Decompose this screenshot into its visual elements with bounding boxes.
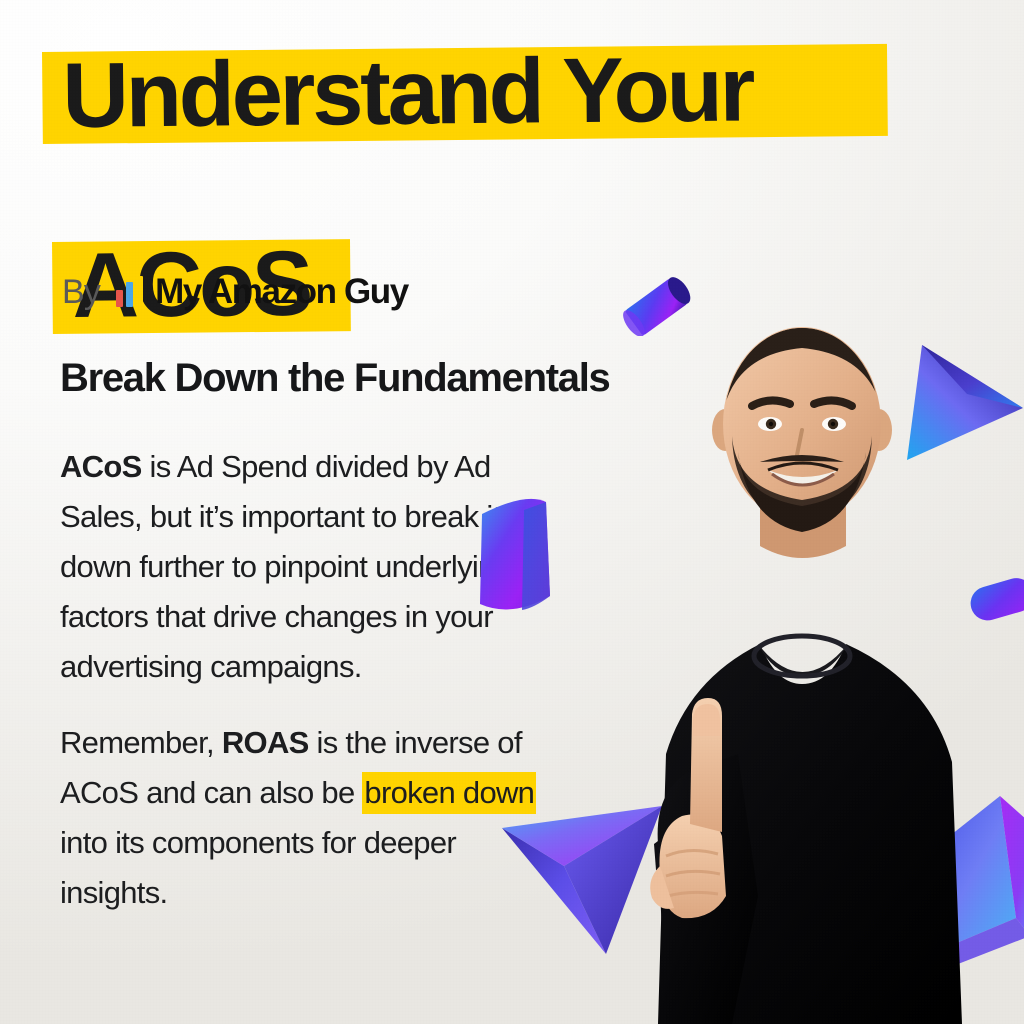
poster-canvas: Understand Your ACoS By My Amazon Guy Br… bbox=[0, 0, 1024, 1024]
paragraph-2: Remember, ROAS is the inverse of ACoS an… bbox=[60, 718, 540, 918]
logo-bar-red bbox=[116, 290, 123, 307]
bar-chart-logo-icon bbox=[116, 275, 143, 309]
p1-rest: is Ad Spend divided by Ad Sales, but it’… bbox=[60, 449, 511, 684]
p2-bold-roas: ROAS bbox=[222, 725, 309, 760]
p2-part1: Remember, bbox=[60, 725, 222, 760]
byline: By My Amazon Guy bbox=[62, 272, 408, 312]
subheading: Break Down the Fundamentals bbox=[60, 356, 609, 401]
title-line-1: Understand Your bbox=[0, 52, 1024, 144]
logo-bar-blue bbox=[126, 282, 133, 307]
presenter-photo bbox=[562, 284, 1024, 1024]
brand-name: My Amazon Guy bbox=[155, 272, 408, 312]
p1-bold-lead: ACoS bbox=[60, 449, 142, 484]
page-title: Understand Your ACoS bbox=[0, 52, 1024, 236]
title-line-2: ACoS bbox=[0, 144, 1024, 236]
title-text-line-1: Understand Your bbox=[62, 43, 753, 142]
logo-bar-yellow bbox=[136, 276, 143, 307]
byline-prefix: By bbox=[62, 273, 100, 312]
blade-shape-icon bbox=[460, 486, 570, 626]
p2-part3: into its components for deeper insights. bbox=[60, 825, 456, 910]
